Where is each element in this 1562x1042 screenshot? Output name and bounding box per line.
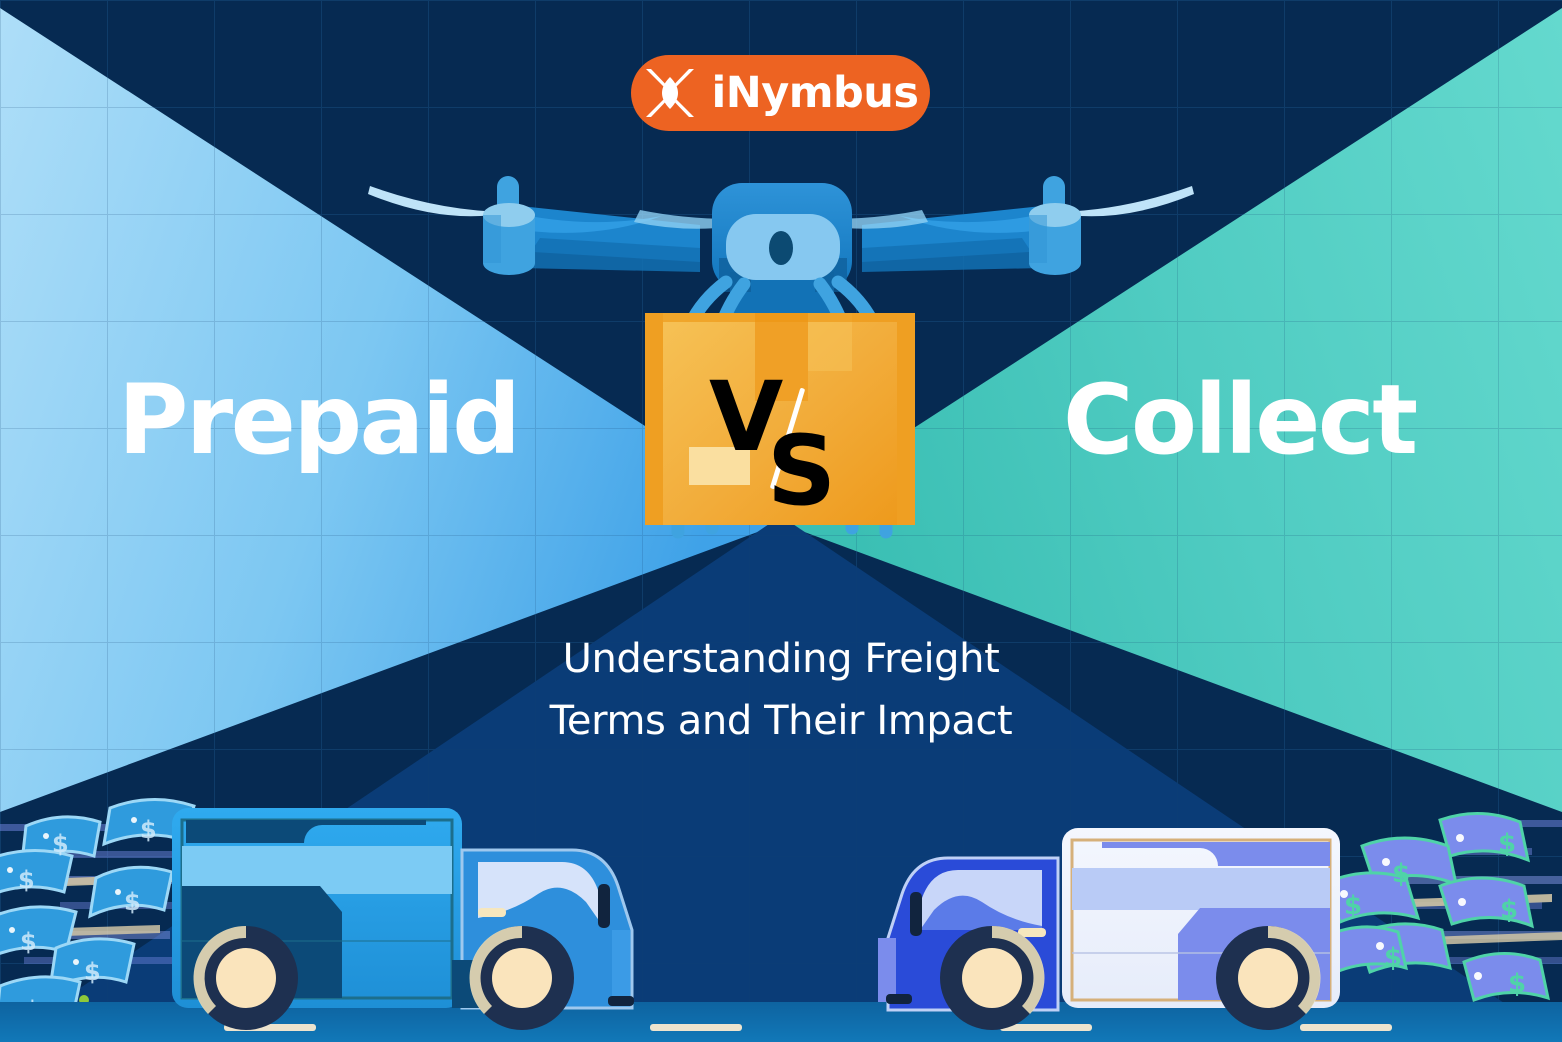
prepaid-heading: Prepaid bbox=[118, 372, 518, 468]
subtitle-line-1: Understanding Freight bbox=[0, 628, 1562, 690]
inymbus-logo[interactable]: iNymbus bbox=[631, 55, 930, 131]
inymbus-bowtie-mark bbox=[642, 67, 698, 119]
collect-heading: Collect bbox=[1063, 372, 1416, 468]
poster-subtitle: Understanding Freight Terms and Their Im… bbox=[0, 628, 1562, 752]
poster-canvas: $ $ $ $ $ $ $ bbox=[0, 0, 1562, 1042]
inymbus-wordmark: iNymbus bbox=[711, 72, 918, 115]
cargo-box bbox=[0, 0, 1562, 1042]
subtitle-line-2: Terms and Their Impact bbox=[0, 690, 1562, 752]
